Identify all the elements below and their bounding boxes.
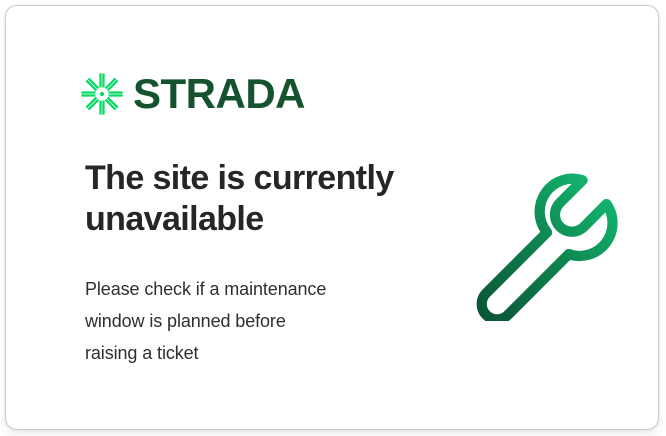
wrench-icon [458, 161, 620, 321]
strada-asterisk-logo-icon [80, 72, 124, 116]
message-block: The site is currently unavailable Please… [85, 158, 425, 369]
brand-wordmark: STRADA [133, 73, 305, 115]
message-body-line: Please check if a maintenance [85, 273, 425, 305]
message-body-line: window is planned before [85, 305, 425, 337]
page-title: The site is currently unavailable [85, 158, 425, 240]
message-body-line: raising a ticket [85, 337, 425, 369]
message-body: Please check if a maintenance window is … [85, 240, 425, 369]
maintenance-card: STRADA The site is currently unavailable… [5, 5, 659, 430]
screenshot-root: STRADA The site is currently unavailable… [0, 0, 666, 436]
brand-lockup: STRADA [80, 72, 305, 116]
